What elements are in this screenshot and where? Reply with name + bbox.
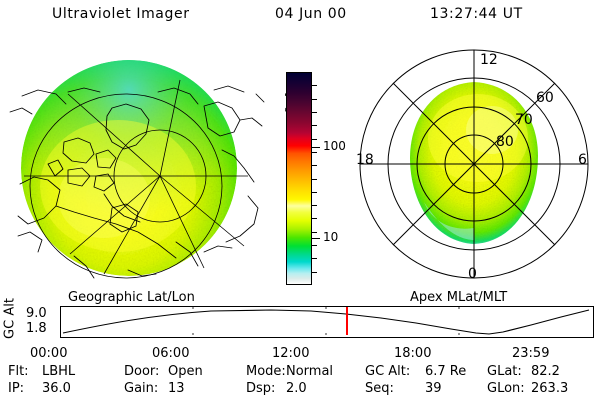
colorbar-minor-tick bbox=[311, 218, 317, 219]
colorbar-minor-tick bbox=[311, 179, 317, 180]
mlt-grid bbox=[360, 50, 588, 278]
status-key-glat: GLat: bbox=[487, 364, 522, 379]
status-key-seq: Seq: bbox=[365, 381, 394, 396]
colorbar-minor-tick bbox=[311, 245, 317, 246]
colorbar-minor-tick bbox=[311, 165, 317, 166]
colorbar-minor-tick bbox=[311, 125, 317, 126]
observation-time: 13:27:44 UT bbox=[430, 6, 523, 22]
time-axis: 00:0006:0012:0018:0023:59 bbox=[0, 346, 600, 362]
status-value-mode: Normal bbox=[286, 364, 333, 379]
mlat-label-60: 60 bbox=[536, 90, 554, 106]
time-axis-label-1: 06:00 bbox=[152, 346, 189, 361]
mlt-label-18: 18 bbox=[356, 152, 374, 168]
gc-alt-tick-low: 1.8 bbox=[26, 321, 47, 336]
apex-mlt-polar-panel[interactable]: 12 18 6 0 60 70 80 bbox=[350, 46, 598, 284]
status-value-flt: LBHL bbox=[42, 364, 75, 379]
mlat-label-80: 80 bbox=[496, 134, 514, 150]
mlt-panel-title: Apex MLat/MLT bbox=[410, 290, 507, 305]
mlt-label-0: 0 bbox=[468, 266, 477, 282]
colorbar-tick-label-100: 100 bbox=[323, 140, 346, 152]
status-value-door: Open bbox=[168, 364, 203, 379]
colorbar-major-tick-100 bbox=[311, 147, 320, 148]
title-bar: Ultraviolet Imager 04 Jun 00 13:27:44 UT bbox=[0, 6, 600, 30]
status-key-glon: GLon: bbox=[487, 381, 525, 396]
gc-alt-tick-high: 9.0 bbox=[26, 306, 47, 321]
colorbar-minor-tick bbox=[311, 232, 317, 233]
orbit-altitude-curve bbox=[61, 307, 591, 335]
status-value-gcalt: 6.7 Re bbox=[425, 364, 466, 379]
colorbar-minor-tick bbox=[311, 139, 317, 140]
status-key-gain: Gain: bbox=[124, 381, 158, 396]
colorbar-major-tick-10 bbox=[311, 238, 320, 239]
observation-date: 04 Jun 00 bbox=[275, 6, 347, 22]
status-value-ip: 36.0 bbox=[42, 381, 71, 396]
status-key-flt: Flt: bbox=[8, 364, 29, 379]
colorbar-minor-tick bbox=[311, 112, 317, 113]
mlt-label-12: 12 bbox=[480, 52, 498, 68]
intensity-colorbar: photon cm-2s-1 10010 bbox=[268, 60, 348, 295]
status-row-primary: Flt:LBHLDoor:OpenMode:NormalGC Alt:6.7 R… bbox=[0, 364, 600, 382]
instrument-title: Ultraviolet Imager bbox=[52, 6, 190, 22]
mlt-polar-plot: 12 18 6 0 60 70 80 bbox=[350, 46, 598, 284]
status-key-dsp: Dsp: bbox=[246, 381, 275, 396]
status-value-seq: 39 bbox=[425, 381, 442, 396]
status-row-secondary: IP:36.0Gain:13Dsp:2.0Seq:39GLon:263.3 bbox=[0, 381, 600, 399]
colorbar-swatch bbox=[286, 72, 312, 285]
status-key-door: Door: bbox=[124, 364, 159, 379]
colorbar-tick-label-10: 10 bbox=[323, 231, 338, 243]
orbit-plot-box[interactable] bbox=[60, 306, 594, 338]
geographic-image-panel[interactable] bbox=[8, 46, 266, 284]
mlat-label-70: 70 bbox=[515, 112, 533, 128]
colorbar-minor-tick bbox=[311, 85, 317, 86]
status-key-gcalt: GC Alt: bbox=[365, 364, 410, 379]
status-value-gain: 13 bbox=[168, 381, 185, 396]
mlt-label-6: 6 bbox=[578, 152, 587, 168]
time-axis-label-2: 12:00 bbox=[272, 346, 309, 361]
status-value-glon: 263.3 bbox=[531, 381, 568, 396]
time-axis-label-3: 18:00 bbox=[394, 346, 431, 361]
orbit-altitude-strip[interactable]: Geographic Lat/Lon Apex MLat/MLT GC Alt … bbox=[0, 292, 600, 342]
status-value-dsp: 2.0 bbox=[286, 381, 307, 396]
gc-alt-axis-label: GC Alt bbox=[3, 296, 18, 342]
status-value-glat: 82.2 bbox=[531, 364, 560, 379]
colorbar-minor-tick bbox=[311, 99, 317, 100]
colorbar-minor-tick bbox=[311, 272, 317, 273]
colorbar-gradient bbox=[287, 73, 311, 284]
geo-panel-title: Geographic Lat/Lon bbox=[68, 290, 195, 305]
status-key-ip: IP: bbox=[8, 381, 24, 396]
current-time-marker[interactable] bbox=[346, 307, 348, 335]
colorbar-minor-tick bbox=[311, 258, 317, 259]
colorbar-minor-tick bbox=[311, 152, 317, 153]
colorbar-minor-tick bbox=[311, 205, 317, 206]
geographic-aurora-image bbox=[8, 46, 266, 284]
colorbar-minor-tick bbox=[311, 192, 317, 193]
time-axis-label-0: 00:00 bbox=[30, 346, 67, 361]
status-key-mode: Mode: bbox=[246, 364, 286, 379]
time-axis-label-4: 23:59 bbox=[512, 346, 549, 361]
